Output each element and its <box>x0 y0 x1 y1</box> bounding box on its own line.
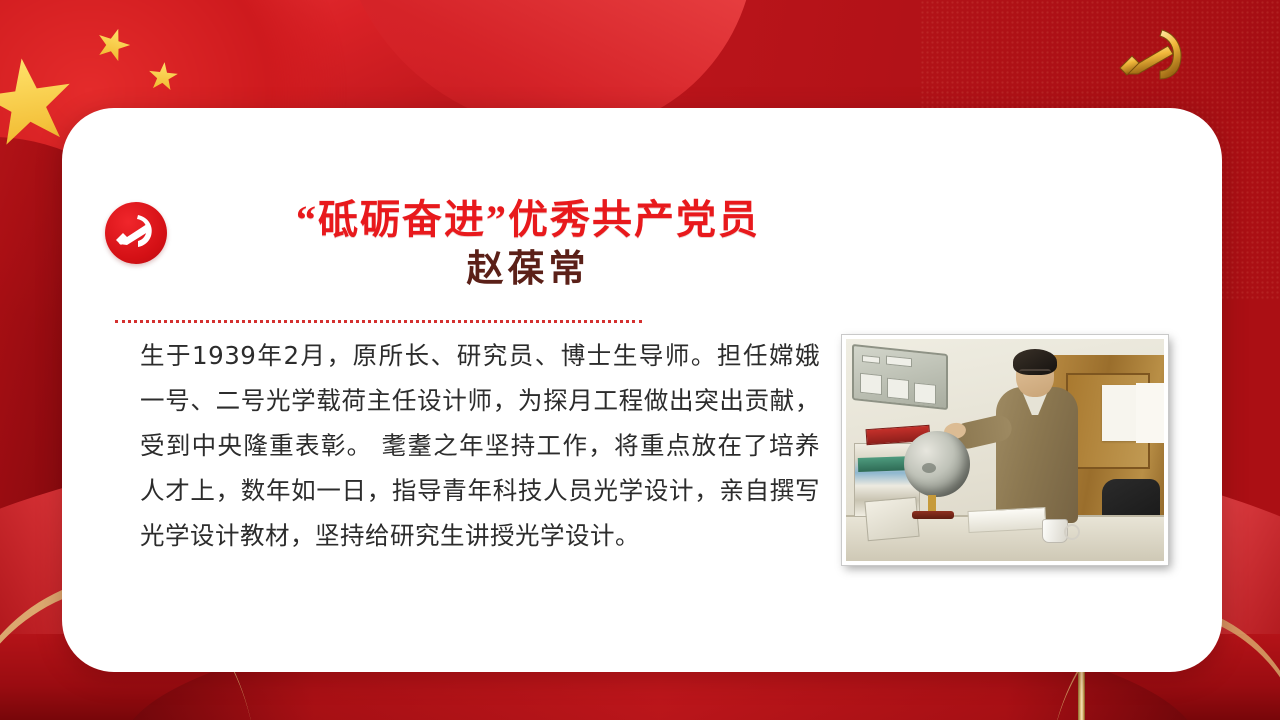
photo-electrical-panel <box>852 344 948 410</box>
photo-wall-notice-1 <box>1102 385 1136 441</box>
dotted-divider <box>115 320 642 323</box>
photo-mug-handle <box>1064 524 1080 540</box>
photo-socket-3 <box>914 382 936 404</box>
portrait-photo <box>842 335 1168 565</box>
photo-folder <box>864 497 919 541</box>
photo-socket-1 <box>860 373 882 395</box>
hammer-sickle-circle-icon <box>105 202 167 264</box>
photo-panel-label <box>862 355 880 364</box>
person-name: 赵葆常 <box>188 250 868 291</box>
photo-globe-base <box>912 511 954 519</box>
title-block: “砥砺奋进”优秀共产党员 赵葆常 <box>188 198 868 290</box>
photo-socket-2 <box>887 378 909 400</box>
biography-paragraph: 生于1939年2月，原所长、研究员、博士生导师。担任嫦娥一号、二号光学载荷主任设… <box>140 333 820 558</box>
photo-panel-led <box>886 356 912 368</box>
photo-wall-notice-2 <box>1136 383 1166 443</box>
photo-person-glasses <box>1019 369 1051 379</box>
page-title: “砥砺奋进”优秀共产党员 <box>188 198 868 243</box>
photo-lunar-globe <box>904 431 970 497</box>
photo-papers <box>967 507 1046 533</box>
photo-globe-crater <box>922 463 936 473</box>
slide-root: “砥砺奋进”优秀共产党员 赵葆常 生于1939年2月，原所长、研究员、博士生导师… <box>0 0 1280 720</box>
hammer-sickle-gold-icon <box>1112 24 1194 94</box>
